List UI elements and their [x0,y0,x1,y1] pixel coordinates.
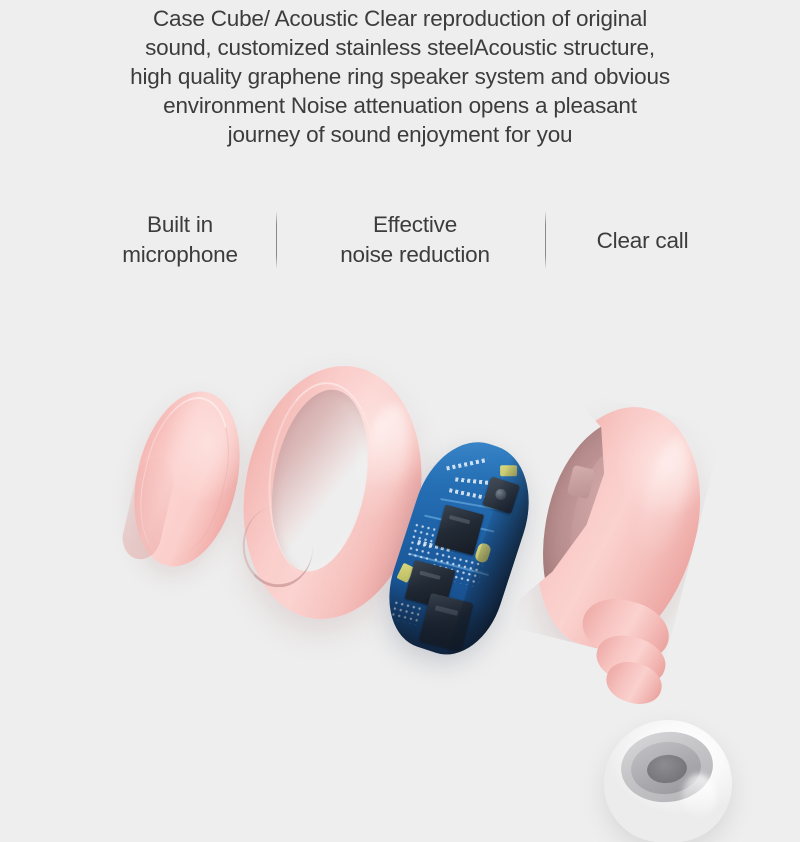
promo-line-1: Case Cube/ Acoustic Clear reproduction o… [60,4,740,33]
feature-built-in-microphone-line-2: microphone [80,240,280,270]
promo-paragraph: Case Cube/ Acoustic Clear reproduction o… [60,4,740,149]
ear-tip-highlight [682,774,716,818]
feature-row: Built in microphone Effective noise redu… [70,206,730,276]
promo-line-2: sound, customized stainless steelAcousti… [60,33,740,62]
feature-effective-noise-reduction: Effective noise reduction [285,210,545,270]
feature-effective-noise-reduction-line-1: Effective [285,210,545,240]
feature-divider-2 [545,212,546,268]
promo-line-4: environment Noise attenuation opens a pl… [60,91,740,120]
feature-divider-1 [276,212,277,268]
feature-built-in-microphone: Built in microphone [80,210,280,270]
pcb-silkscreen-row [446,458,488,471]
feature-clear-call: Clear call [555,226,730,256]
pcb-solder-pad-grid [406,522,436,560]
product-part-earbud-shell [540,405,740,735]
feature-effective-noise-reduction-line-2: noise reduction [285,240,545,270]
promo-line-5: journey of sound enjoyment for you [60,120,740,149]
product-part-ear-tip [604,720,732,842]
product-exploded-view [0,330,800,800]
feature-clear-call-line-1: Clear call [555,226,730,256]
promo-line-3: high quality graphene ring speaker syste… [60,62,740,91]
feature-built-in-microphone-line-1: Built in [80,210,280,240]
